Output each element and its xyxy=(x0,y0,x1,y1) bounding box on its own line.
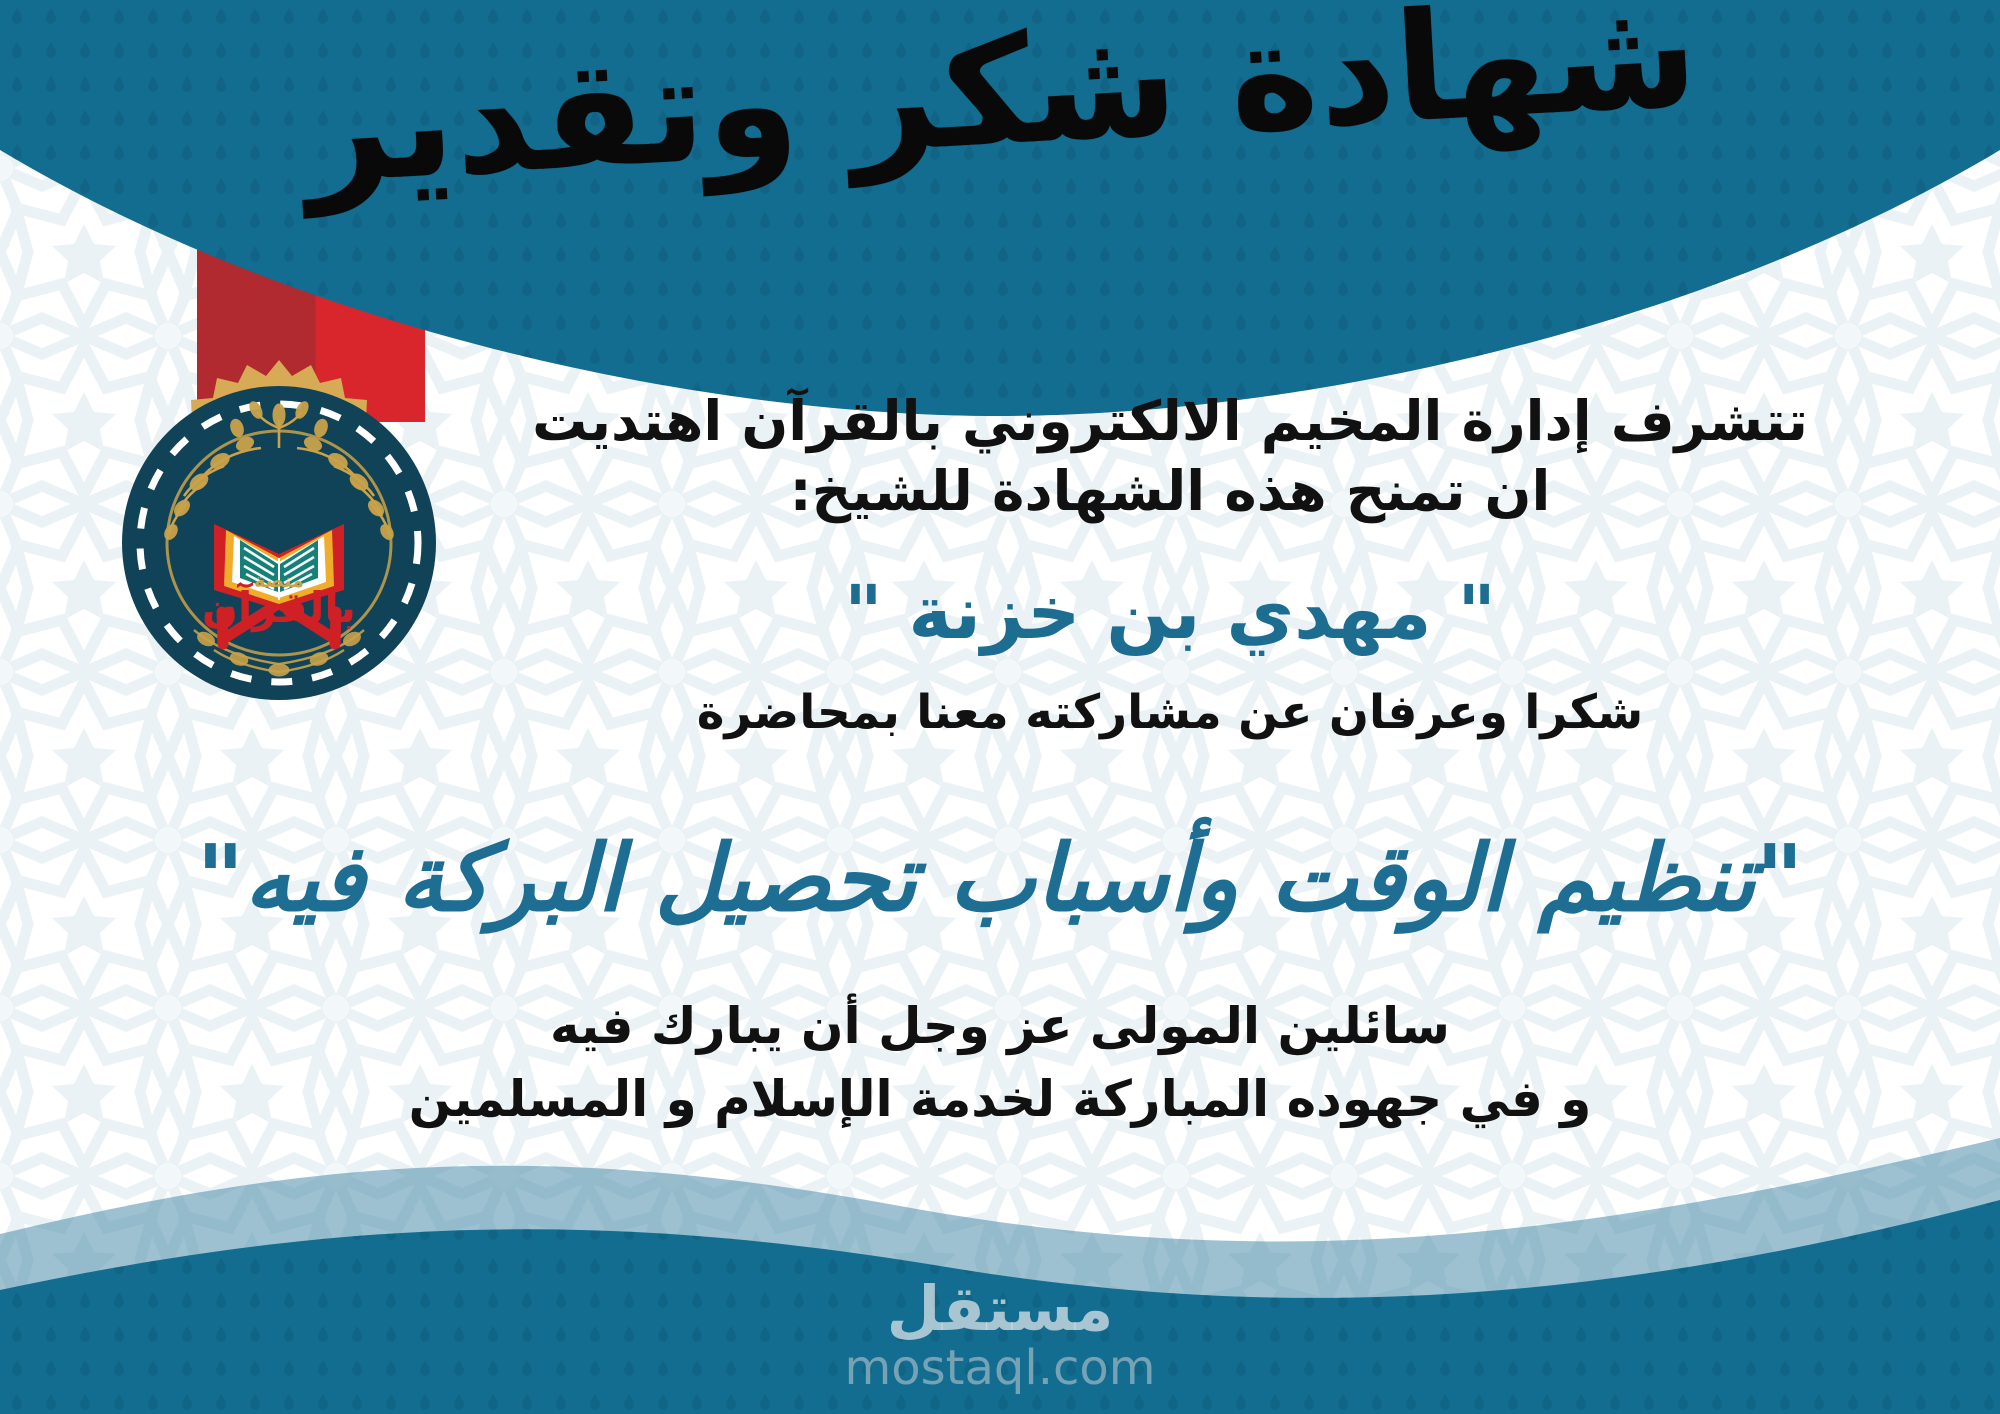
thanks-line: شكرا وعرفان عن مشاركته معنا بمحاضرة xyxy=(420,684,1920,743)
certificate-body: تتشرف إدارة المخيم الالكتروني بالقرآن اه… xyxy=(420,386,1920,742)
intro-line-2: ان تمنح هذه الشهادة للشيخ: xyxy=(420,456,1920,526)
lecture-title: "تنظيم الوقت وأسباب تحصيل البركة فيه" xyxy=(0,828,2000,929)
certificate-canvas: شهادة شكر وتقدير xyxy=(0,0,2000,1414)
medallion-seal: منصة بالقرآن xyxy=(94,358,464,728)
closing-line-2: و في جهوده المباركة لخدمة الإسلام و المس… xyxy=(0,1063,2000,1136)
closing-line-1: سائلين المولى عز وجل أن يبارك فيه xyxy=(0,990,2000,1063)
recipient-name: " مهدي بن خزنة " xyxy=(420,569,1920,658)
intro-line-1: تتشرف إدارة المخيم الالكتروني بالقرآن اه… xyxy=(420,386,1920,456)
closing-block: سائلين المولى عز وجل أن يبارك فيه و في ج… xyxy=(0,990,2000,1135)
